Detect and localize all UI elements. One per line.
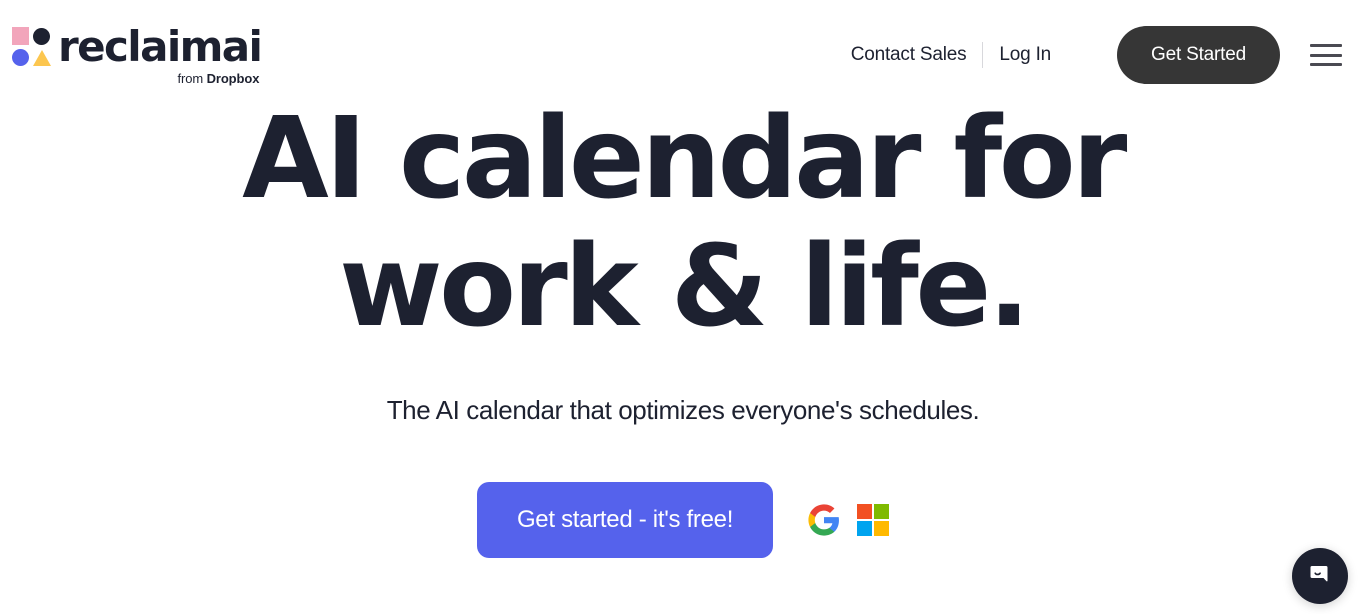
nav-divider (982, 42, 983, 68)
brand-wordmark: reclaimai (58, 26, 261, 68)
nav-link-contact-sales[interactable]: Contact Sales (837, 44, 981, 66)
microsoft-signin-icon[interactable] (857, 504, 889, 536)
logo-yellow-triangle-icon (33, 50, 51, 66)
logo-pink-square-icon (12, 27, 29, 45)
brand-tagline-dropbox: Dropbox (207, 71, 260, 86)
get-started-button[interactable]: Get Started (1117, 26, 1280, 84)
hamburger-bar-3 (1310, 63, 1342, 66)
google-signin-icon[interactable] (807, 503, 841, 537)
hero-subtitle: The AI calendar that optimizes everyone'… (0, 395, 1366, 426)
microsoft-square-yellow (874, 521, 889, 536)
microsoft-square-green (874, 504, 889, 519)
brand-row: reclaimai (12, 26, 261, 68)
hero-headline-line-1: AI calendar for (0, 96, 1366, 224)
reclaim-logo-mark (12, 27, 50, 67)
hero-headline: AI calendar for work & life. (0, 96, 1366, 351)
sso-icon-group (807, 503, 889, 537)
brand-tagline: from Dropbox (177, 71, 261, 86)
hero-section: AI calendar for work & life. The AI cale… (0, 96, 1366, 558)
hamburger-bar-1 (1310, 44, 1342, 47)
brand-tagline-prefix: from (177, 71, 206, 86)
brand-logo-link[interactable]: reclaimai from Dropbox (0, 0, 261, 86)
chat-bubble-icon (1306, 562, 1334, 590)
get-started-free-button[interactable]: Get started - it's free! (477, 482, 773, 558)
hamburger-menu-icon[interactable] (1310, 41, 1342, 69)
chat-widget-button[interactable] (1292, 548, 1348, 604)
nav-link-log-in[interactable]: Log In (985, 44, 1065, 66)
microsoft-square-red (857, 504, 872, 519)
logo-blue-circle-icon (12, 49, 29, 66)
hero-headline-line-2: work & life. (0, 224, 1366, 352)
logo-dark-circle-icon (33, 28, 50, 45)
hamburger-bar-2 (1310, 54, 1342, 57)
hero-cta-row: Get started - it's free! (0, 482, 1366, 558)
primary-navigation: Contact Sales Log In Get Started (837, 0, 1366, 84)
microsoft-square-blue (857, 521, 872, 536)
